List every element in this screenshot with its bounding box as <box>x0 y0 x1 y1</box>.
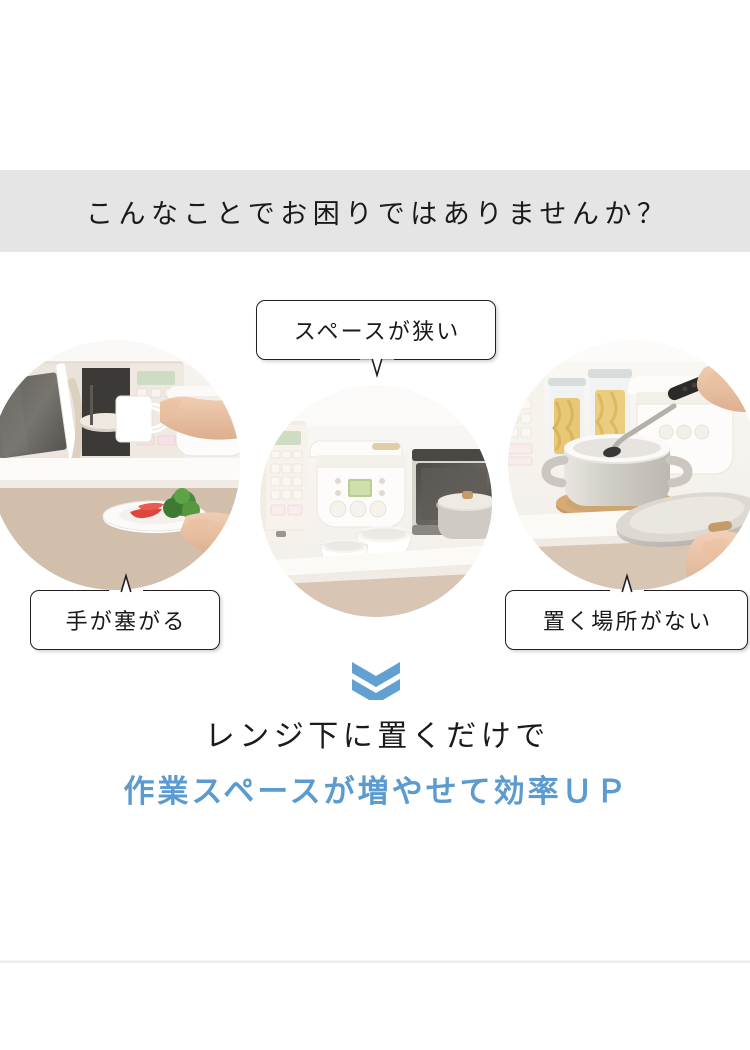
bubble-space-narrow-text: スペースが狭い <box>292 314 461 346</box>
bubble-tail-up-icon <box>109 575 143 592</box>
bubble-tail-up-icon <box>610 575 644 592</box>
bubble-no-place: 置く場所がない <box>505 590 748 650</box>
section-heading-text: こんなことでお困りではありませんか？ <box>81 192 670 231</box>
headline-line-2: 作業スペースが増やせて効率ＵＰ <box>0 772 750 812</box>
bubble-tail-down-icon <box>360 359 394 376</box>
photo-microwave-hands-full <box>0 340 240 590</box>
photo-pot-no-space <box>508 340 750 590</box>
feature-headline: レンジ下に置くだけで 作業スペースが増やせて効率ＵＰ <box>0 718 750 812</box>
photo-crowded-counter <box>260 385 492 617</box>
microwave-hands-full-illustration <box>0 340 240 590</box>
bubble-hands-full: 手が塞がる <box>30 590 220 650</box>
headline-line-1: レンジ下に置くだけで <box>0 718 750 756</box>
section-heading-band: こんなことでお困りではありませんか？ <box>0 170 750 252</box>
bubble-space-narrow: スペースが狭い <box>256 300 496 360</box>
crowded-counter-illustration <box>260 385 492 617</box>
section-divider <box>0 960 750 963</box>
product-feature-page: こんなことでお困りではありませんか？ <box>0 0 750 1050</box>
bubble-hands-full-text: 手が塞がる <box>63 604 186 636</box>
pot-no-space-illustration <box>508 340 750 590</box>
double-chevron-down-icon <box>350 660 402 700</box>
bubble-no-place-text: 置く場所がない <box>541 604 713 636</box>
